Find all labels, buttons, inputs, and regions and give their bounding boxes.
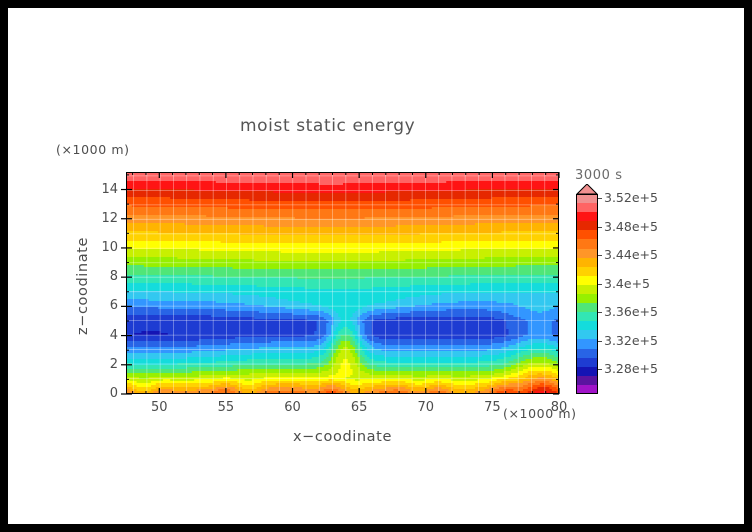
colorbar-tick-label: 3.32e+5: [604, 333, 658, 348]
x-axis-tick-label: 80: [544, 400, 574, 415]
x-axis-tick-label: 50: [144, 400, 174, 415]
colorbar-tick-mark: [598, 198, 602, 199]
colorbar-tick-label: 3.28e+5: [604, 361, 658, 376]
colorbar-edge: [576, 194, 598, 195]
colorbar-tick-label: 3.4e+5: [604, 276, 650, 291]
y-axis-tick-label: 12: [92, 211, 118, 226]
x-axis-title: x−coodinate: [293, 429, 392, 445]
y-axis-tick-label: 10: [92, 240, 118, 255]
colorbar: [576, 194, 598, 394]
colorbar-edge: [576, 393, 598, 394]
y-axis-tick-label: 2: [92, 357, 118, 372]
colorbar-tick-label: 3.44e+5: [604, 247, 658, 262]
y-axis-tick-label: 0: [92, 386, 118, 401]
colorbar-tick-mark: [598, 369, 602, 370]
colorbar-tick-label: 3.52e+5: [604, 190, 658, 205]
x-axis-tick-label: 70: [411, 400, 441, 415]
timestamp-label: 3000 s: [575, 168, 623, 183]
colorbar-tick-mark: [598, 255, 602, 256]
y-axis-tick-label: 6: [92, 298, 118, 313]
colorbar-tick-label: 3.48e+5: [604, 219, 658, 234]
y-axis-tick-label: 4: [92, 328, 118, 343]
x-axis-tick-label: 65: [344, 400, 374, 415]
moist-static-energy-field: [127, 173, 558, 393]
x-axis-tick-label: 75: [477, 400, 507, 415]
y-axis-tick-label: 8: [92, 269, 118, 284]
x-axis-tick-label: 60: [278, 400, 308, 415]
colorbar-tick-mark: [598, 284, 602, 285]
x-axis-tick-label: 55: [211, 400, 241, 415]
figure-canvas: moist static energy (×1000 m) (×1000 m) …: [8, 8, 744, 524]
y-axis-tick-label: 14: [92, 182, 118, 197]
page-title: moist static energy: [240, 116, 415, 136]
contour-plot-area: [126, 172, 559, 394]
colorbar-tick-mark: [598, 341, 602, 342]
colorbar-tick-mark: [598, 227, 602, 228]
y-axis-unit-label: (×1000 m): [56, 142, 130, 157]
y-axis-title: z−coodinate: [75, 206, 91, 366]
colorbar-tick-mark: [598, 312, 602, 313]
colorbar-tick-label: 3.36e+5: [604, 304, 658, 319]
